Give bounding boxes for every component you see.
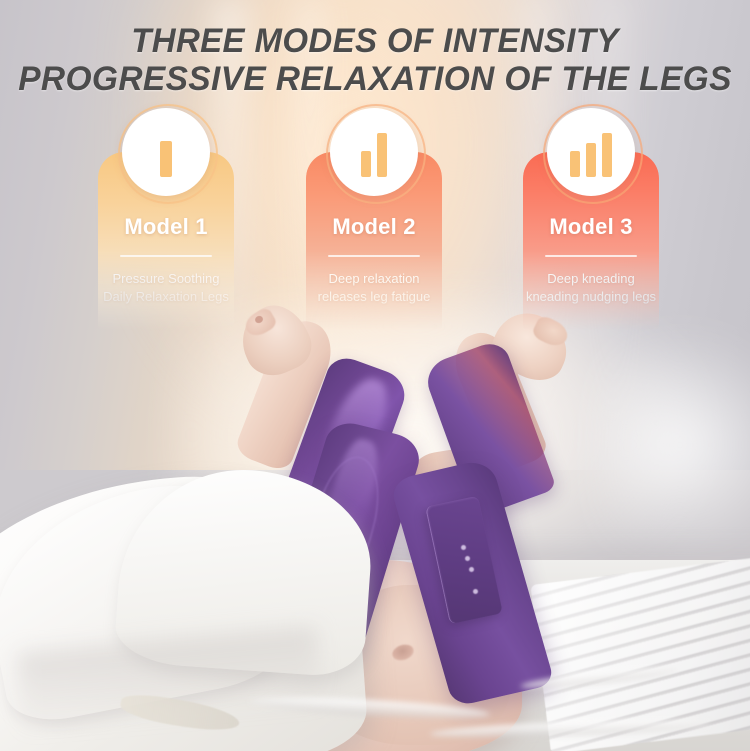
- mode-card-1-title: Model 1: [98, 214, 234, 240]
- mode-card-3-description: Deep kneading kneading nudging legs: [525, 270, 657, 306]
- mode-card-2-divider: [328, 255, 420, 257]
- mode-card-2-desc-line-2: releases leg fatigue: [308, 288, 440, 306]
- product-poster: THREE MODES OF INTENSITY PROGRESSIVE REL…: [0, 0, 750, 751]
- bar: [377, 133, 387, 177]
- bar-group: [160, 127, 172, 177]
- mode-card-3-desc-line-2: kneading nudging legs: [525, 288, 657, 306]
- intensity-bars-3-icon: [547, 108, 635, 196]
- mode-card-1-description: Pressure Soothing Daily Relaxation Legs: [100, 270, 232, 306]
- mode-card-1-divider: [120, 255, 212, 257]
- mode-card-2-title: Model 2: [306, 214, 442, 240]
- mode-cards: Model 1 Pressure Soothing Daily Relaxati…: [0, 0, 750, 751]
- mode-card-1-desc-line-1: Pressure Soothing: [100, 270, 232, 288]
- bar: [361, 151, 371, 177]
- mode-card-3-desc-line-1: Deep kneading: [525, 270, 657, 288]
- bar: [602, 133, 612, 177]
- bar-group: [570, 127, 612, 177]
- bar-group: [361, 127, 387, 177]
- intensity-bars-2-icon: [330, 108, 418, 196]
- bar: [160, 141, 172, 177]
- mode-card-2-description: Deep relaxation releases leg fatigue: [308, 270, 440, 306]
- bar: [586, 143, 596, 177]
- mode-card-3-title: Model 3: [523, 214, 659, 240]
- mode-card-3-divider: [545, 255, 637, 257]
- mode-card-2-desc-line-1: Deep relaxation: [308, 270, 440, 288]
- mode-card-1-desc-line-2: Daily Relaxation Legs: [100, 288, 232, 306]
- intensity-bars-1-icon: [122, 108, 210, 196]
- bar: [570, 151, 580, 177]
